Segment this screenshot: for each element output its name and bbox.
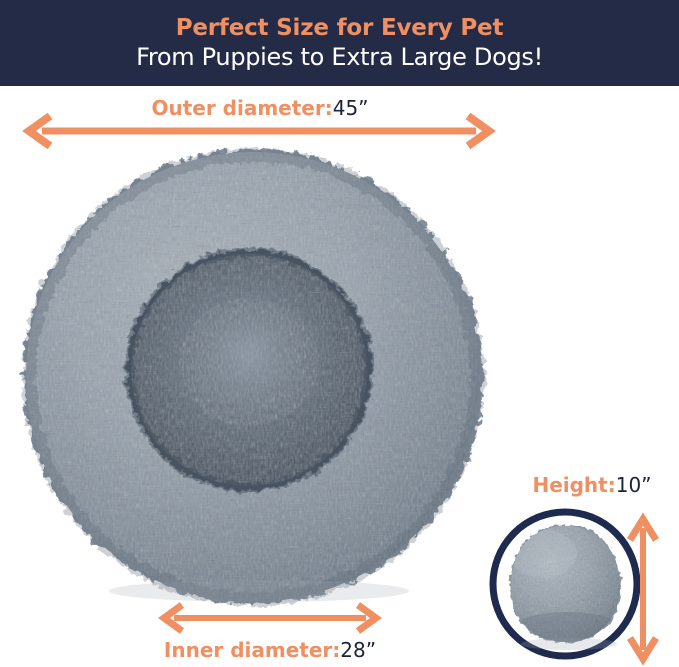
height-arrow-icon xyxy=(622,514,664,664)
header-banner: Perfect Size for Every Pet From Puppies … xyxy=(0,0,679,86)
inner-diameter-arrow-icon xyxy=(160,602,380,634)
inner-diameter-label: Inner diameter:28” xyxy=(110,640,430,660)
main-pet-bed-image xyxy=(21,148,485,606)
height-label: Height:10” xyxy=(505,475,679,495)
height-label-text: Height: xyxy=(532,473,615,497)
banner-subtitle: From Puppies to Extra Large Dogs! xyxy=(136,44,543,72)
inner-diameter-value: 28” xyxy=(340,638,376,662)
banner-title: Perfect Size for Every Pet xyxy=(176,16,504,41)
inner-diameter-label-text: Inner diameter: xyxy=(164,638,340,662)
height-value: 10” xyxy=(616,473,652,497)
outer-diameter-arrow-icon xyxy=(24,114,494,148)
